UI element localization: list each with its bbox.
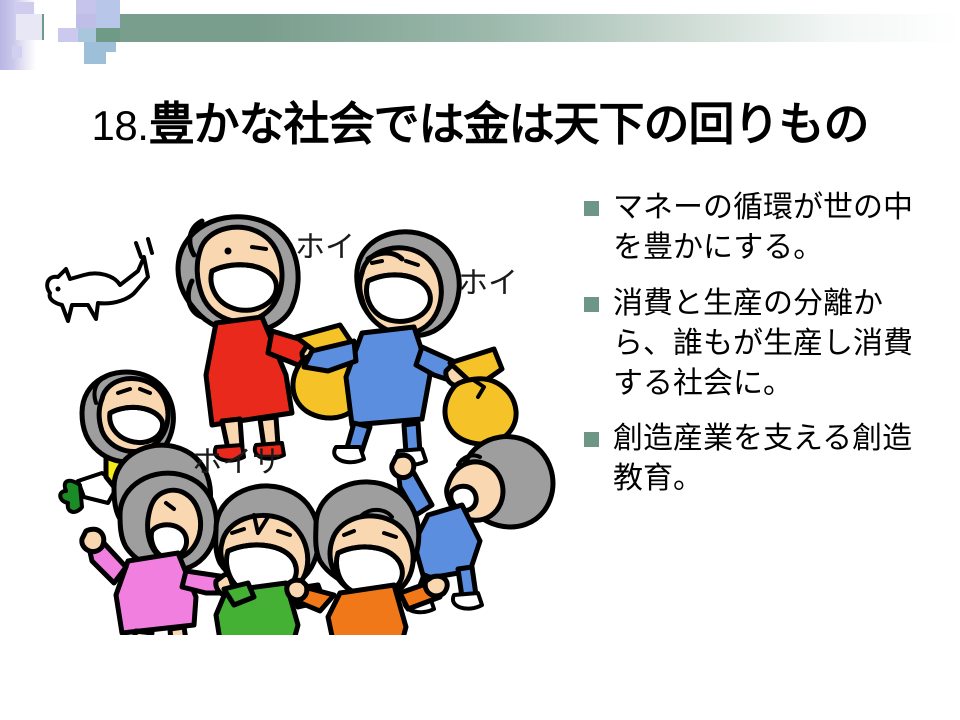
money-circulation-illustration: [10, 185, 570, 635]
header-square-7: [12, 46, 22, 58]
bullet-square-icon-1: [584, 201, 599, 216]
bullet-square-icon-3: [584, 432, 599, 447]
header-square-green-2: [96, 28, 120, 42]
dog-figure: [47, 239, 152, 321]
bullet-item-1: マネーの循環が世の中を豊かにする。: [584, 188, 960, 268]
header-square-5: [58, 28, 78, 42]
bullet-item-2: 消費と生産の分離から、誰もが生産し消費する社会に。: [584, 284, 960, 404]
header-square-4: [76, 14, 98, 28]
bullet-text-1: マネーの循環が世の中を豊かにする。: [613, 188, 925, 268]
header-gradient-bar: [60, 14, 960, 42]
bullet-list: マネーの循環が世の中を豊かにする。 消費と生産の分離から、誰もが生産し消費する社…: [584, 188, 960, 515]
slide-title-text: 豊かな社会では金は天下の回りもの: [148, 97, 868, 151]
header-square-blue-3: [106, 42, 116, 52]
bullet-item-3: 創造産業を支える創造教育。: [584, 419, 960, 499]
illustration-caption-hoi-2: ホイ: [458, 258, 518, 302]
bullet-text-3: 創造産業を支える創造教育。: [613, 419, 925, 499]
slide-title: 18.豊かな社会では金は天下の回りもの: [0, 88, 960, 154]
slide-title-number: 18.: [92, 102, 149, 149]
header-square-white-3: [62, 42, 84, 50]
illustration-caption-hoisa: ホイサ: [192, 437, 282, 481]
illustration-caption-hoi-1: ホイ: [295, 222, 355, 266]
slide-header-decoration: [0, 0, 960, 70]
header-square-6: [96, 0, 120, 30]
header-square-blue-1: [78, 28, 98, 42]
figure-blue-1: [304, 232, 470, 465]
figure-green: [213, 486, 324, 635]
header-square-blue-2: [84, 42, 106, 64]
bullet-square-icon-2: [584, 297, 599, 312]
bullet-text-2: 消費と生産の分離から、誰もが生産し消費する社会に。: [613, 284, 925, 404]
money-bag-right: [445, 349, 516, 444]
header-square-2: [16, 14, 42, 40]
